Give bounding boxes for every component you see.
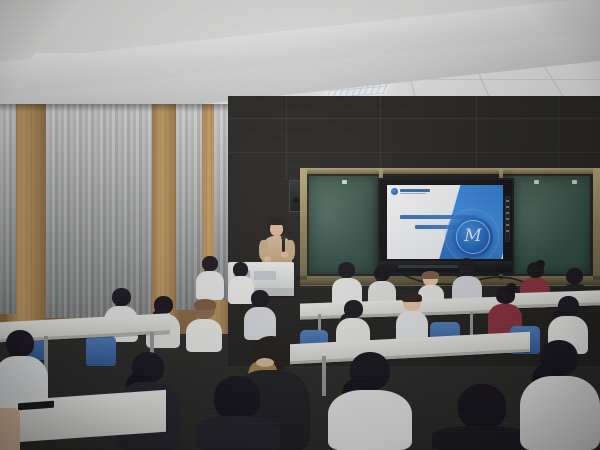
classroom-photo: M [0, 0, 600, 450]
window-curtain [0, 104, 16, 314]
student-arm [0, 408, 20, 450]
student [196, 256, 224, 300]
university-logo [391, 188, 430, 195]
microphone [282, 238, 285, 252]
display-bezel [380, 261, 512, 272]
display-control-strip[interactable] [505, 196, 510, 242]
student [196, 376, 280, 450]
student [244, 290, 276, 340]
seal-glyph: M [464, 228, 481, 245]
student [328, 352, 412, 450]
hair-scrunchie [256, 358, 274, 367]
window-curtain [46, 104, 152, 318]
logo-subtext [400, 193, 426, 195]
student [520, 340, 600, 450]
university-seal: M [453, 217, 493, 257]
chalkboard-right [502, 176, 590, 274]
presentation-slide: M [387, 185, 503, 259]
interactive-whiteboard[interactable]: M [378, 178, 514, 274]
logo-mark [391, 188, 398, 195]
student [432, 384, 528, 450]
student [186, 300, 222, 352]
chair [86, 336, 116, 366]
chalkboard-left [309, 176, 379, 274]
logo-wordmark [400, 189, 430, 192]
